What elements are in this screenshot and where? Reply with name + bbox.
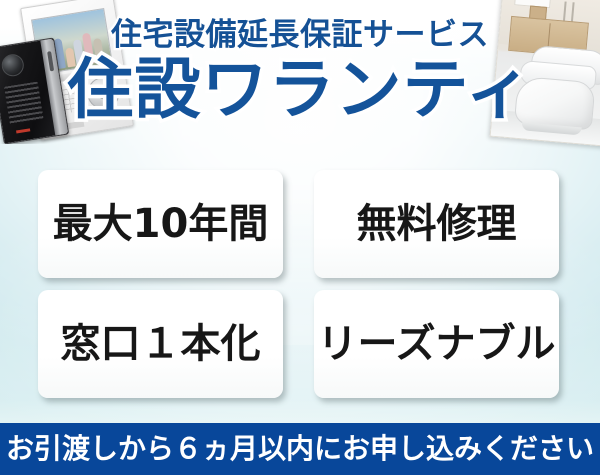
feature-box-4[interactable]: リーズナブル (314, 290, 559, 398)
led-indicator-icon (16, 128, 30, 133)
feature-label-3: 窓口１本化 (61, 324, 261, 364)
feature-box-1[interactable]: 最大10年間 (38, 170, 283, 278)
service-subtitle: 住宅設備延長保証サービス (0, 20, 600, 51)
feature-box-2[interactable]: 無料修理 (314, 170, 559, 278)
feature-grid: 最大10年間 無料修理 窓口１本化 リーズナブル (38, 170, 559, 398)
feature-box-3[interactable]: 窓口１本化 (38, 290, 283, 398)
promo-banner: 住宅設備延長保証サービス 住設ワランティ 最大10年間 無料修理 窓口１本化 リ… (0, 0, 600, 475)
headline-block: 住宅設備延長保証サービス 住設ワランティ (0, 0, 600, 123)
feature-label-1: 最大10年間 (53, 204, 269, 244)
feature-label-2: 無料修理 (357, 204, 517, 244)
feature-label-4: リーズナブル (318, 324, 556, 364)
notice-bar: お引渡しから６ヵ月以内にお申し込みください (0, 423, 600, 475)
notice-text: お引渡しから６ヵ月以内にお申し込みください (6, 435, 594, 463)
service-title: 住設ワランティ (0, 57, 600, 123)
